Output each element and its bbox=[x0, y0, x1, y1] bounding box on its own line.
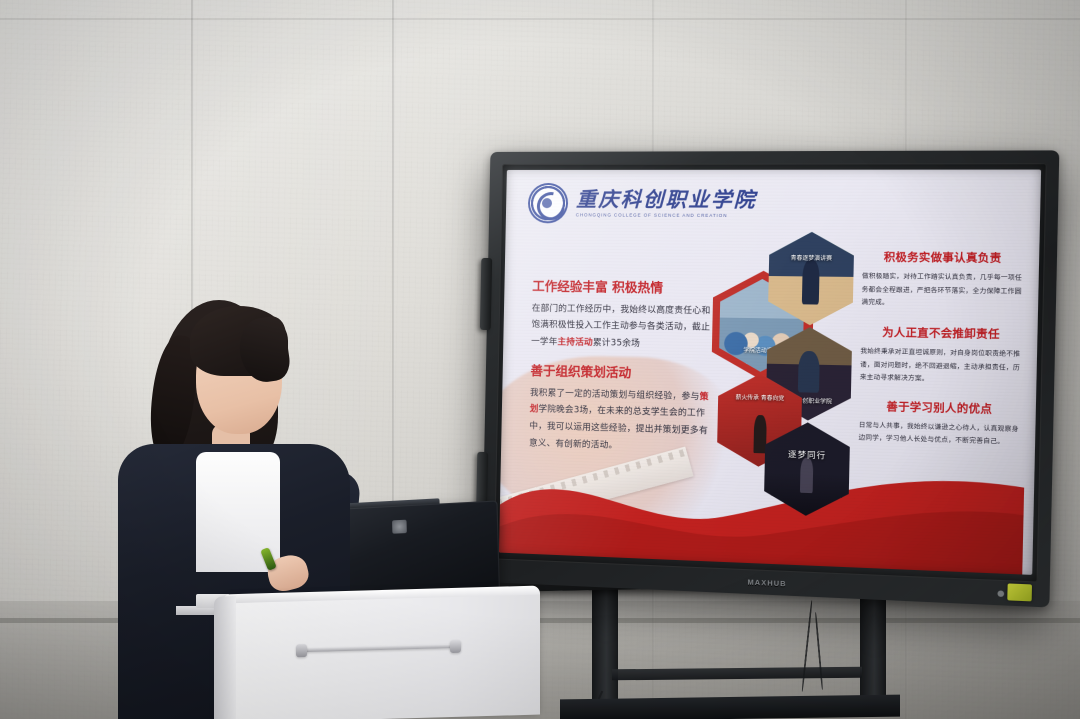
hexagon-caption: 青春逐梦演讲赛 bbox=[769, 254, 854, 263]
slide-block: 积极务实做事认真负责 做积极踏实，对待工作踏实认真负责，几乎每一项任务都会全程跟… bbox=[861, 251, 1023, 312]
stand-base bbox=[560, 695, 900, 719]
slide-block: 工作经验丰富 积极热情 在部门的工作经历中，我始终以高度责任心和饱满积极性投入工… bbox=[531, 279, 718, 355]
body-post: 学院晚会3场，在未来的总支学生会的工作中，我可以运用这些经验，提出并策划更多有意… bbox=[529, 405, 708, 451]
body-highlight: 主持活动 bbox=[557, 337, 593, 348]
bezel-side-bracket bbox=[480, 258, 492, 330]
bezel-side-bracket bbox=[476, 452, 488, 508]
lectern-left-edge bbox=[214, 596, 236, 719]
university-seal-icon bbox=[528, 183, 569, 223]
block-body: 日常与人共事，我始终以谦逊之心待人，认真观察身边同学，学习他人长处与优点，不断完… bbox=[858, 420, 1020, 450]
lectern-rail-knob bbox=[296, 644, 307, 657]
block-heading: 工作经验丰富 积极热情 bbox=[532, 279, 717, 297]
lectern-rail bbox=[298, 644, 460, 653]
slide-left-column: 工作经验丰富 积极热情 在部门的工作经历中，我始终以高度责任心和饱满积极性投入工… bbox=[529, 279, 718, 470]
lectern-rail-knob bbox=[450, 640, 461, 653]
block-body: 在部门的工作经历中，我始终以高度责任心和饱满积极性投入工作主动参与各类活动，截止… bbox=[531, 300, 717, 354]
display-indicator-dot bbox=[997, 590, 1004, 597]
energy-label-sticker bbox=[1007, 583, 1032, 601]
display-screen[interactable]: 重庆科创职业学院 CHONGQING COLLEGE OF SCIENCE AN… bbox=[499, 170, 1041, 575]
university-name-cn: 重庆科创职业学院 bbox=[576, 189, 757, 210]
interactive-smart-board[interactable]: 重庆科创职业学院 CHONGQING COLLEGE OF SCIENCE AN… bbox=[482, 150, 1060, 607]
block-body: 我始终秉承对正直坦诚原则，对自身岗位职责绝不推诿，面对问题时，绝不回避退缩，主动… bbox=[860, 346, 1022, 388]
university-name-en: CHONGQING COLLEGE OF SCIENCE AND CREATIO… bbox=[576, 212, 757, 218]
block-body: 做积极踏实，对待工作踏实认真负责，几乎每一项任务都会全程跟进，严把各环节落实，全… bbox=[861, 271, 1023, 312]
block-body: 我积累了一定的活动策划与组织经验，参与策划学院晚会3场，在未来的总支学生会的工作… bbox=[529, 385, 715, 458]
block-heading: 积极务实做事认真负责 bbox=[862, 251, 1023, 266]
block-heading: 善于学习别人的优点 bbox=[859, 400, 1020, 418]
slide-block: 善于学习别人的优点 日常与人共事，我始终以谦逊之心待人，认真观察身边同学，学习他… bbox=[858, 400, 1020, 450]
display-brand-label: MAXHUB bbox=[747, 579, 786, 588]
block-heading: 善于组织策划活动 bbox=[530, 363, 715, 383]
display-bezel: 重庆科创职业学院 CHONGQING COLLEGE OF SCIENCE AN… bbox=[482, 150, 1060, 607]
slide-right-column: 积极务实做事认真负责 做积极踏实，对待工作踏实认真负责，几乎每一项任务都会全程跟… bbox=[858, 251, 1024, 463]
hexagon-caption: 逐梦同行 bbox=[765, 448, 850, 463]
presentation-scene: 重庆科创职业学院 CHONGQING COLLEGE OF SCIENCE AN… bbox=[0, 0, 1080, 719]
stand-leg bbox=[592, 585, 618, 713]
white-lectern bbox=[222, 590, 540, 719]
block-heading: 为人正直不会推卸责任 bbox=[861, 326, 1022, 342]
slide-block: 善于组织策划活动 我积累了一定的活动策划与组织经验，参与策划学院晚会3场，在未来… bbox=[529, 363, 716, 458]
laptop-logo-icon bbox=[392, 520, 407, 534]
stand-leg bbox=[860, 585, 886, 713]
slide-block: 为人正直不会推卸责任 我始终秉承对正直坦诚原则，对自身岗位职责绝不推诿，面对问题… bbox=[860, 326, 1022, 388]
university-logo: 重庆科创职业学院 CHONGQING COLLEGE OF SCIENCE AN… bbox=[528, 183, 757, 224]
hexagon-photo-cluster: 学院活动现场 青春逐梦演讲赛 重庆科创职业学院 薪火传承 青春向党 bbox=[718, 231, 882, 498]
body-pre: 我积累了一定的活动策划与组织经验，参与 bbox=[530, 388, 700, 402]
body-post: 累计35余场 bbox=[593, 338, 640, 349]
wall-horizontal-seam bbox=[0, 18, 1080, 20]
